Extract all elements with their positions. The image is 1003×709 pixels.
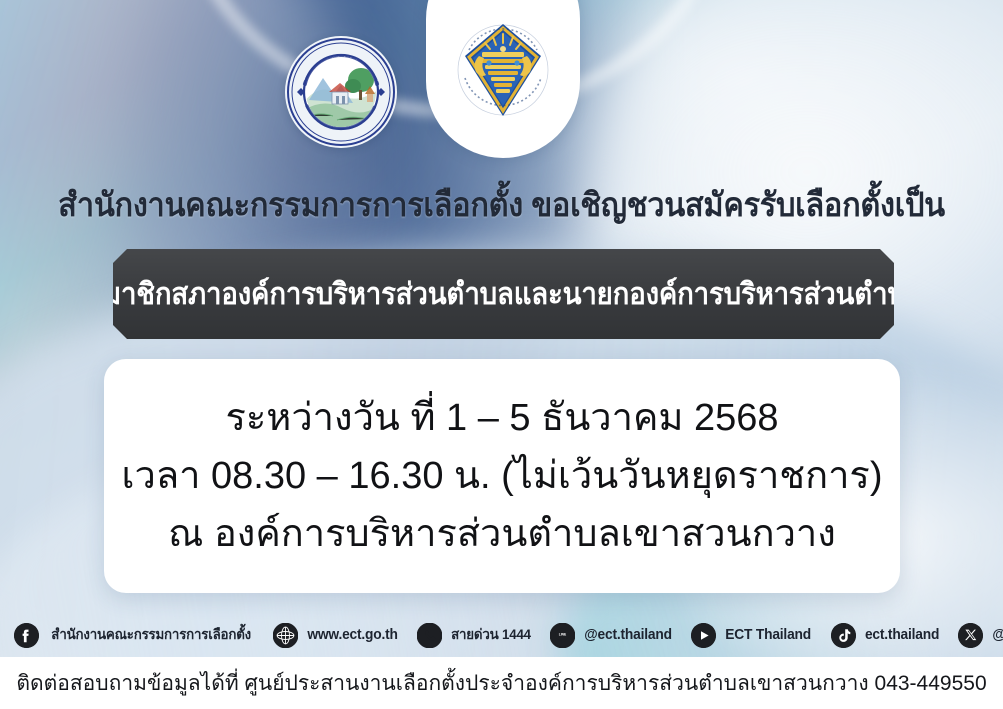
social-link-x-twitter[interactable]: @EctThailand [958,623,1003,648]
detail-time-line: เวลา 08.30 – 16.30 น. (ไม่เว้นวันหยุดราช… [122,449,883,503]
social-label-x-twitter: @EctThailand [992,627,1003,643]
poster-root: สำนักงานคณะกรรมการการเลือกตั้ง ขอเชิญชวน… [0,0,1003,709]
detail-location-line: ณ องค์การบริหารส่วนตำบลเขาสวนกวาง [168,507,836,561]
social-label-youtube: ECT Thailand [726,627,812,643]
social-footer-bar: สำนักงานคณะกรรมการการเลือกตั้ง www.ect.g… [0,613,1003,657]
social-link-line[interactable]: LINE @ect.thailand [550,623,674,648]
logo-row [0,0,1003,175]
detail-date-line: ระหว่างวัน ที่ 1 – 5 ธันวาคม 2568 [225,391,778,445]
social-label-facebook: สำนักงานคณะกรรมการการเลือกตั้ง [51,624,251,646]
social-link-tiktok[interactable]: ect.thailand [831,623,941,648]
contact-strip: ติดต่อสอบถามข้อมูลได้ที่ ศูนย์ประสานงานเ… [0,657,1003,709]
website-icon [273,623,298,648]
line-icon: LINE [550,623,575,648]
position-banner: สมาชิกสภาองค์การบริหารส่วนตำบลและนายกองค… [113,249,894,339]
ect-thailand-emblem-icon [455,16,551,124]
social-link-website[interactable]: www.ect.go.th [273,623,400,648]
details-card: ระหว่างวัน ที่ 1 – 5 ธันวาคม 2568 เวลา 0… [104,359,900,593]
facebook-icon [14,623,39,648]
social-link-facebook[interactable]: สำนักงานคณะกรรมการการเลือกตั้ง [14,623,256,648]
x-twitter-icon [958,623,983,648]
social-link-hotline[interactable]: สายด่วน 1444 [417,623,533,648]
social-label-line: @ect.thailand [585,627,673,643]
svg-text:LINE: LINE [559,632,567,636]
tiktok-icon [831,623,856,648]
khao-suan-kwang-seal-icon [285,36,397,148]
youtube-icon [691,623,716,648]
social-label-tiktok: ect.thailand [865,627,939,643]
phone-icon [417,623,442,648]
position-banner-text: สมาชิกสภาองค์การบริหารส่วนตำบลและนายกองค… [86,271,921,318]
contact-text: ติดต่อสอบถามข้อมูลได้ที่ ศูนย์ประสานงานเ… [16,667,986,700]
social-link-youtube[interactable]: ECT Thailand [691,623,813,648]
social-label-hotline: สายด่วน 1444 [451,624,531,646]
page-headline: สำนักงานคณะกรรมการการเลือกตั้ง ขอเชิญชวน… [35,183,968,227]
social-label-website: www.ect.go.th [308,627,398,643]
